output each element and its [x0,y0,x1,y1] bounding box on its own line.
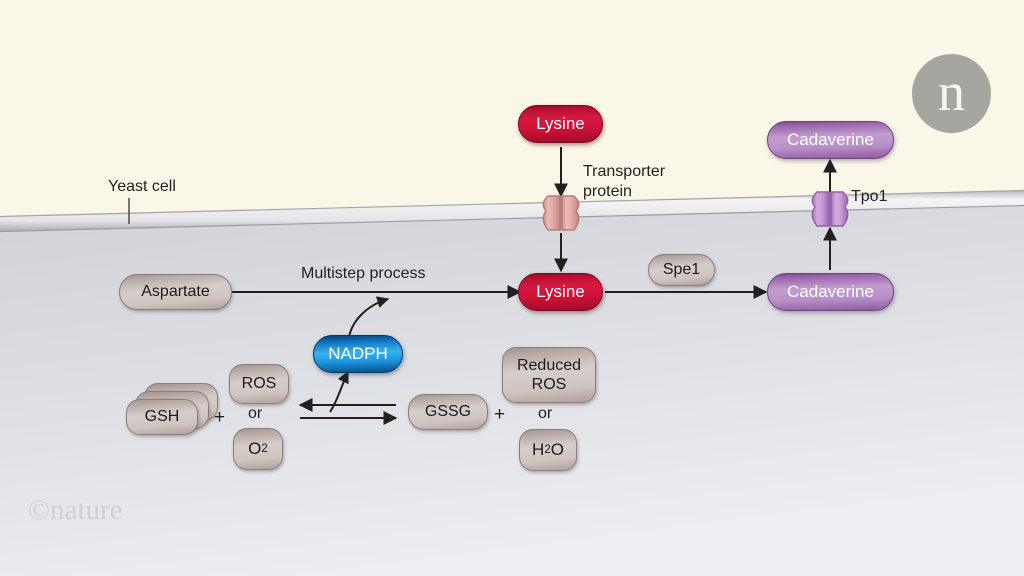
tpo1-transporter-icon[interactable] [812,192,848,226]
node-nadph[interactable]: NADPH [313,335,403,373]
or-right: or [538,405,552,423]
multistep-process-label: Multistep process [301,265,426,283]
node-gsh[interactable]: GSH [126,399,198,435]
node-cadaverine-outside[interactable]: Cadaverine [767,121,894,159]
node-o2-label: O [248,440,261,458]
yeast-cell-label: Yeast cell [108,178,176,196]
transporter-protein-label: Transporter protein [583,162,665,202]
nature-watermark: ©nature [28,494,123,527]
node-h2o-label-tail: O [551,441,564,459]
node-reduced-ros-label: Reduced ROS [517,356,581,394]
node-ros-label: ROS [242,376,277,393]
node-h2o-label: H [532,441,544,459]
node-nadph-label: NADPH [328,345,388,363]
node-cadaverine-inside[interactable]: Cadaverine [767,273,894,311]
node-gsh-label: GSH [145,409,180,426]
node-aspartate-label: Aspartate [141,284,209,301]
node-o2-subscript: 2 [261,443,267,455]
node-lysine-outside-label: Lysine [536,115,585,133]
node-cadaverine-outside-label: Cadaverine [787,131,874,149]
node-spe1-label: Spe1 [663,262,700,279]
nature-logo-letter: n [938,65,965,119]
node-lysine-inside[interactable]: Lysine [518,273,603,311]
tpo1-label: Tpo1 [851,188,887,206]
node-cadaverine-inside-label: Cadaverine [787,283,874,301]
transporter-protein-icon[interactable] [543,196,579,230]
plus-right: + [494,404,505,426]
node-reduced-ros[interactable]: Reduced ROS [502,347,596,403]
node-gssg-label: GSSG [425,404,471,421]
node-ros[interactable]: ROS [229,364,289,404]
node-gssg[interactable]: GSSG [408,394,488,430]
node-h2o[interactable]: H2O [519,429,577,471]
or-left: or [248,405,262,423]
node-aspartate[interactable]: Aspartate [119,274,232,310]
node-spe1[interactable]: Spe1 [648,254,715,286]
node-lysine-outside[interactable]: Lysine [518,105,603,143]
nature-logo: n [912,54,991,133]
node-lysine-inside-label: Lysine [536,283,585,301]
plus-left: + [214,407,225,429]
node-gsh-stack[interactable]: GSH [126,383,218,435]
node-o2[interactable]: O2 [233,428,283,470]
diagram-canvas: Yeast cell Transporter protein Tpo1 Mult… [0,0,1024,576]
